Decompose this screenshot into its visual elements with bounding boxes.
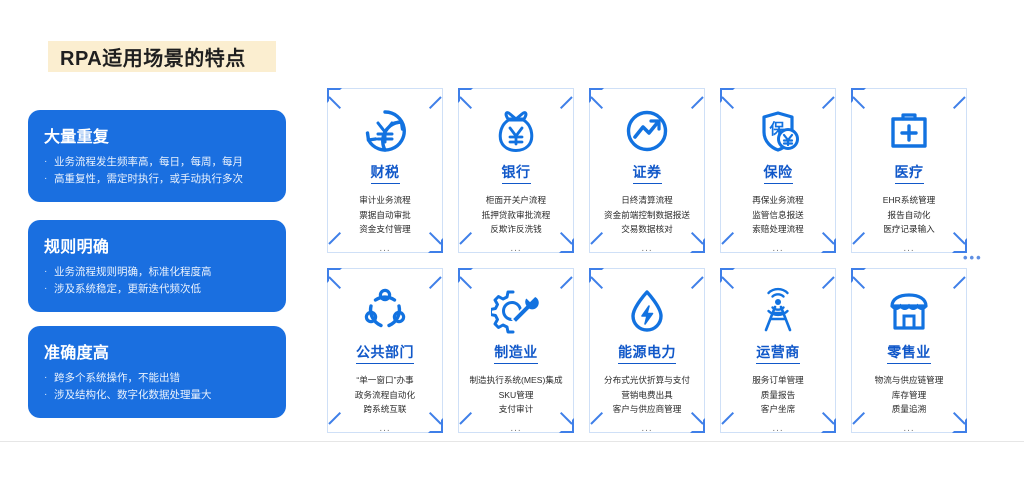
page-title-text: RPA适用场景的特点 [48, 42, 246, 71]
industry-card-finance-tax[interactable]: 财税 审计业务流程 票据自动审批 资金支付管理 ... [327, 88, 443, 253]
industry-card-item: EHR系统管理 [853, 193, 965, 208]
industry-card-more: ... [772, 243, 783, 254]
corner-accent-icon [953, 96, 966, 109]
corner-accent-icon [429, 96, 442, 109]
industry-card-public-sector[interactable]: 公共部门 “单一窗口”办事 政务流程自动化 跨系统互联 ... [327, 268, 443, 433]
feature-card-repetition: 大量重复 · 业务流程发生频率高，每日，每周，每月 · 高重复性，需定时执行，或… [28, 110, 286, 202]
industry-card-more: ... [379, 243, 390, 254]
industry-card-item: 质量追溯 [853, 402, 965, 417]
industry-card-more: ... [510, 243, 521, 254]
corner-accent-icon [822, 276, 835, 289]
industry-card-item: 审计业务流程 [329, 193, 441, 208]
industry-card-title: 财税 [371, 162, 400, 184]
industry-card-more: ... [772, 423, 783, 434]
industry-card-item: 服务订单管理 [722, 373, 834, 388]
feature-bullet: · 高重复性，需定时执行，或手动执行多次 [44, 171, 270, 187]
corner-accent-icon [721, 276, 734, 289]
industry-card-securities[interactable]: 证券 日终清算流程 资金前端控制数据报送 交易数据核对 ... [589, 88, 705, 253]
gear-wrench-icon [490, 286, 542, 336]
corner-accent-icon [560, 96, 573, 109]
feature-card-accuracy: 准确度高 · 跨多个系统操作，不能出错 · 涉及结构化、数字化数据处理量大 [28, 326, 286, 418]
corner-accent-icon [691, 276, 704, 289]
feature-bullet-text: 跨多个系统操作，不能出错 [54, 370, 270, 386]
industry-card-title: 制造业 [494, 342, 538, 364]
energy-drop-icon [621, 286, 673, 336]
feature-bullet: · 涉及结构化、数字化数据处理量大 [44, 387, 270, 403]
industry-card-telecom[interactable]: 运营商 服务订单管理 质量报告 客户坐席 ... [720, 268, 836, 433]
feature-card-heading: 准确度高 [44, 339, 270, 363]
trend-arrow-circle-icon [621, 106, 673, 156]
industry-card-grid: 财税 审计业务流程 票据自动审批 资金支付管理 ... 银行 柜面开关户流程 抵… [327, 88, 967, 433]
feature-bullet-text: 涉及结构化、数字化数据处理量大 [54, 387, 270, 403]
industry-card-item: 日终清算流程 [591, 193, 703, 208]
corner-accent-icon [691, 96, 704, 109]
industry-card-more: ... [903, 243, 914, 254]
industry-card-item: SKU管理 [460, 388, 572, 403]
currency-cycle-icon [359, 106, 411, 156]
industry-card-item: 资金支付管理 [329, 222, 441, 237]
feature-bullet: · 业务流程规则明确，标准化程度高 [44, 264, 270, 280]
industry-card-item: 柜面开关户流程 [460, 193, 572, 208]
bullet-dot-icon: · [44, 281, 54, 297]
corner-accent-icon [590, 96, 603, 109]
feature-card-heading: 规则明确 [44, 233, 270, 257]
corner-accent-icon [328, 96, 341, 109]
corner-accent-icon [459, 276, 472, 289]
industry-card-title: 银行 [502, 162, 531, 184]
industry-card-insurance[interactable]: 保 保险 再保业务流程 监管信息报送 索赔处理流程 ... [720, 88, 836, 253]
corner-accent-icon [852, 96, 865, 109]
industry-card-item: 政务流程自动化 [329, 388, 441, 403]
industry-card-item: 票据自动审批 [329, 208, 441, 223]
industry-card-retail[interactable]: 零售业 物流与供应链管理 库存管理 质量追溯 ... [851, 268, 967, 433]
shield-insurance-icon: 保 [752, 106, 804, 156]
feature-bullet: · 业务流程发生频率高，每日，每周，每月 [44, 154, 270, 170]
grid-more-marker: ••• [963, 250, 983, 265]
corner-accent-icon [852, 276, 865, 289]
industry-card-item: 物流与供应链管理 [853, 373, 965, 388]
corner-accent-icon [953, 276, 966, 289]
industry-card-energy-power[interactable]: 能源电力 分布式光伏折算与支付 营销电费出具 客户与供应商管理 ... [589, 268, 705, 433]
industry-card-item: 索赔处理流程 [722, 222, 834, 237]
industry-card-more: ... [903, 423, 914, 434]
feature-bullet: · 跨多个系统操作，不能出错 [44, 370, 270, 386]
industry-card-title: 零售业 [887, 342, 931, 364]
industry-card-item: 客户坐席 [722, 402, 834, 417]
feature-bullet-text: 业务流程发生频率高，每日，每周，每月 [54, 154, 270, 170]
bullet-dot-icon: · [44, 370, 54, 386]
industry-card-more: ... [379, 423, 390, 434]
signal-tower-icon [752, 286, 804, 336]
page-title: RPA适用场景的特点 [48, 38, 246, 74]
industry-card-item: 库存管理 [853, 388, 965, 403]
industry-card-title: 能源电力 [618, 342, 676, 364]
footer: 达观数据 | 文本智能机器人专家 达观数据 DATA GRAND [0, 442, 1024, 493]
industry-card-item: 分布式光伏折算与支付 [591, 373, 703, 388]
slide-root: RPA适用场景的特点 大量重复 · 业务流程发生频率高，每日，每周，每月 · 高… [0, 0, 1024, 493]
money-bag-icon [490, 106, 542, 156]
industry-card-item: 报告自动化 [853, 208, 965, 223]
industry-card-item: 制造执行系统(MES)集成 [460, 373, 572, 388]
industry-card-item: 交易数据核对 [591, 222, 703, 237]
corner-accent-icon [721, 96, 734, 109]
industry-card-manufacturing[interactable]: 制造业 制造执行系统(MES)集成 SKU管理 支付审计 ... [458, 268, 574, 433]
industry-card-healthcare[interactable]: 医疗 EHR系统管理 报告自动化 医疗记录输入 ... [851, 88, 967, 253]
industry-card-item: 客户与供应商管理 [591, 402, 703, 417]
industry-card-item: 营销电费出具 [591, 388, 703, 403]
industry-card-item: 医疗记录输入 [853, 222, 965, 237]
industry-card-title: 公共部门 [356, 342, 414, 364]
network-nodes-icon [359, 286, 411, 336]
feature-bullet-text: 涉及系统稳定，更新迭代频次低 [54, 281, 270, 297]
bullet-dot-icon: · [44, 154, 54, 170]
feature-bullet: · 涉及系统稳定，更新迭代频次低 [44, 281, 270, 297]
storefront-icon [883, 286, 935, 336]
industry-card-item: 监管信息报送 [722, 208, 834, 223]
industry-card-item: 抵押贷款审批流程 [460, 208, 572, 223]
medical-kit-icon [883, 106, 935, 156]
feature-bullet-text: 业务流程规则明确，标准化程度高 [54, 264, 270, 280]
corner-accent-icon [560, 276, 573, 289]
corner-accent-icon [459, 96, 472, 109]
industry-card-item: 支付审计 [460, 402, 572, 417]
left-column: RPA适用场景的特点 大量重复 · 业务流程发生频率高，每日，每周，每月 · 高… [0, 0, 318, 440]
industry-card-item: 反欺诈反洗钱 [460, 222, 572, 237]
feature-card-clear-rules: 规则明确 · 业务流程规则明确，标准化程度高 · 涉及系统稳定，更新迭代频次低 [28, 220, 286, 312]
industry-card-title: 保险 [764, 162, 793, 184]
industry-card-item: 跨系统互联 [329, 402, 441, 417]
industry-card-banking[interactable]: 银行 柜面开关户流程 抵押贷款审批流程 反欺诈反洗钱 ... [458, 88, 574, 253]
industry-card-more: ... [641, 423, 652, 434]
bullet-dot-icon: · [44, 171, 54, 187]
industry-card-more: ... [510, 423, 521, 434]
industry-card-item: “单一窗口”办事 [329, 373, 441, 388]
industry-card-item: 再保业务流程 [722, 193, 834, 208]
industry-card-title: 医疗 [895, 162, 924, 184]
feature-card-heading: 大量重复 [44, 123, 270, 147]
industry-card-more: ... [641, 243, 652, 254]
corner-accent-icon [822, 96, 835, 109]
corner-accent-icon [429, 276, 442, 289]
industry-card-title: 运营商 [756, 342, 800, 364]
industry-card-item: 质量报告 [722, 388, 834, 403]
corner-accent-icon [328, 276, 341, 289]
bullet-dot-icon: · [44, 264, 54, 280]
feature-bullet-text: 高重复性，需定时执行，或手动执行多次 [54, 171, 270, 187]
industry-card-title: 证券 [633, 162, 662, 184]
industry-card-item: 资金前端控制数据报送 [591, 208, 703, 223]
corner-accent-icon [590, 276, 603, 289]
bullet-dot-icon: · [44, 387, 54, 403]
